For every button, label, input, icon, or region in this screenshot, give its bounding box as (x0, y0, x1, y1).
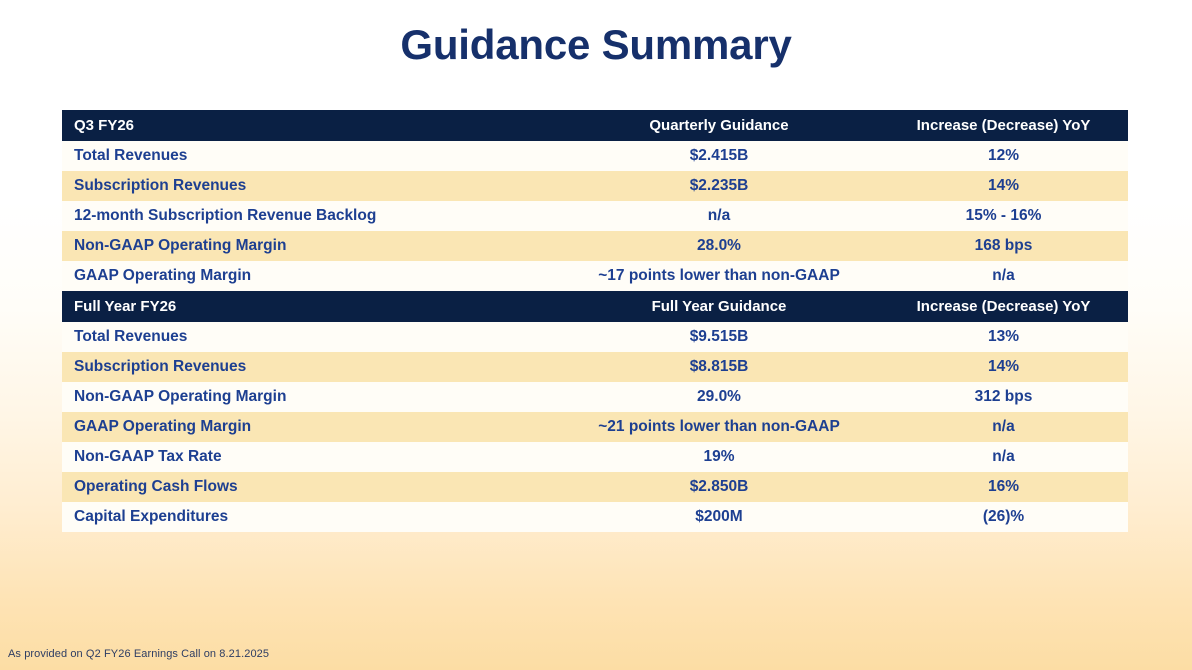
row-yoy: 312 bps (879, 382, 1128, 412)
row-label: GAAP Operating Margin (62, 412, 559, 442)
guidance-table-body: Q3 FY26Quarterly GuidanceIncrease (Decre… (62, 110, 1128, 532)
row-yoy: 14% (879, 352, 1128, 382)
table-row: 12-month Subscription Revenue Backlogn/a… (62, 201, 1128, 231)
row-label: Total Revenues (62, 141, 559, 171)
row-value: 19% (559, 442, 879, 472)
row-label: Non-GAAP Tax Rate (62, 442, 559, 472)
section-header-yoy: Increase (Decrease) YoY (879, 110, 1128, 141)
table-row: Operating Cash Flows$2.850B16% (62, 472, 1128, 502)
row-yoy: n/a (879, 261, 1128, 291)
section-header-value: Quarterly Guidance (559, 110, 879, 141)
slide-canvas: Guidance Summary Q3 FY26Quarterly Guidan… (0, 0, 1192, 670)
row-value: $2.235B (559, 171, 879, 201)
table-row: Non-GAAP Operating Margin28.0%168 bps (62, 231, 1128, 261)
row-value: $8.815B (559, 352, 879, 382)
row-yoy: 12% (879, 141, 1128, 171)
table-row: Subscription Revenues$8.815B14% (62, 352, 1128, 382)
section-header-label: Q3 FY26 (62, 110, 559, 141)
row-yoy: n/a (879, 412, 1128, 442)
section-header-row: Full Year FY26Full Year GuidanceIncrease… (62, 291, 1128, 322)
row-yoy: n/a (879, 442, 1128, 472)
row-value: $2.850B (559, 472, 879, 502)
guidance-table: Q3 FY26Quarterly GuidanceIncrease (Decre… (62, 110, 1128, 532)
table-row: Capital Expenditures$200M(26)% (62, 502, 1128, 532)
row-value: 28.0% (559, 231, 879, 261)
row-label: Subscription Revenues (62, 171, 559, 201)
row-label: Non-GAAP Operating Margin (62, 382, 559, 412)
row-yoy: 14% (879, 171, 1128, 201)
table-row: Non-GAAP Operating Margin29.0%312 bps (62, 382, 1128, 412)
section-header-label: Full Year FY26 (62, 291, 559, 322)
row-label: 12-month Subscription Revenue Backlog (62, 201, 559, 231)
table-row: Total Revenues$2.415B12% (62, 141, 1128, 171)
row-yoy: 16% (879, 472, 1128, 502)
footnote: As provided on Q2 FY26 Earnings Call on … (8, 648, 269, 660)
row-yoy: 15% - 16% (879, 201, 1128, 231)
row-value: n/a (559, 201, 879, 231)
row-value: 29.0% (559, 382, 879, 412)
table-row: GAAP Operating Margin~21 points lower th… (62, 412, 1128, 442)
table-row: GAAP Operating Margin~17 points lower th… (62, 261, 1128, 291)
row-label: Total Revenues (62, 322, 559, 352)
section-header-value: Full Year Guidance (559, 291, 879, 322)
row-value: $9.515B (559, 322, 879, 352)
row-value: $200M (559, 502, 879, 532)
table-row: Non-GAAP Tax Rate19%n/a (62, 442, 1128, 472)
row-value: $2.415B (559, 141, 879, 171)
row-yoy: 13% (879, 322, 1128, 352)
section-header-yoy: Increase (Decrease) YoY (879, 291, 1128, 322)
row-label: Non-GAAP Operating Margin (62, 231, 559, 261)
row-value: ~21 points lower than non-GAAP (559, 412, 879, 442)
row-label: Operating Cash Flows (62, 472, 559, 502)
row-yoy: (26)% (879, 502, 1128, 532)
row-label: Subscription Revenues (62, 352, 559, 382)
table-row: Total Revenues$9.515B13% (62, 322, 1128, 352)
row-yoy: 168 bps (879, 231, 1128, 261)
page-title: Guidance Summary (0, 22, 1192, 68)
row-label: Capital Expenditures (62, 502, 559, 532)
row-value: ~17 points lower than non-GAAP (559, 261, 879, 291)
row-label: GAAP Operating Margin (62, 261, 559, 291)
table-row: Subscription Revenues$2.235B14% (62, 171, 1128, 201)
section-header-row: Q3 FY26Quarterly GuidanceIncrease (Decre… (62, 110, 1128, 141)
